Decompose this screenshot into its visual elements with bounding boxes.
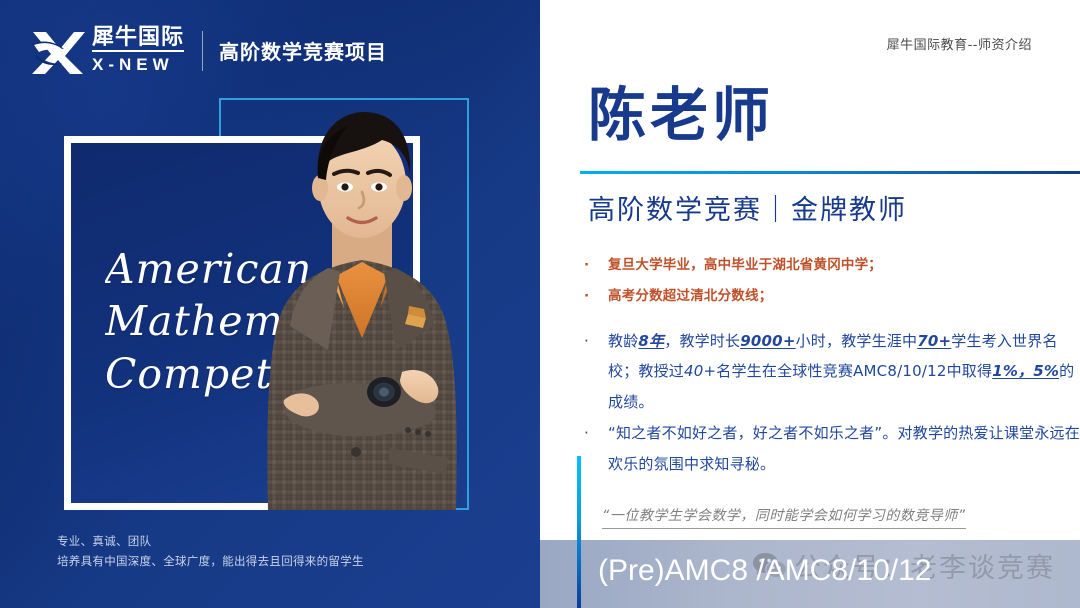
left-navy-panel: American Mathematics Competition: [0, 0, 540, 608]
tagline-quote: “一位教学生学会数学，同时能学会如何学习的数竞导师”: [602, 505, 966, 529]
bullet-list: · 复旦大学毕业，高中毕业于湖北省黄冈中学； · 高考分数超过清北分数线； · …: [580, 250, 1080, 479]
list-item: · 复旦大学毕业，高中毕业于湖北省黄冈中学；: [580, 250, 1080, 281]
bullet-marker: ·: [580, 418, 608, 449]
teacher-photo: [232, 100, 492, 510]
brand-name-en: X-NEW: [92, 54, 184, 75]
caption-line-2: 培养具有中国深度、全球广度，能出得去且回得来的留学生: [57, 551, 364, 571]
caption-line-1: 专业、真诚、团队: [57, 531, 364, 551]
bullet-text: 复旦大学毕业，高中毕业于湖北省黄冈中学；: [608, 250, 1080, 281]
bullet-text: 教龄8年，教学时长9000+小时，教学生涯中70+学生考入世界名校；教授过40+…: [608, 326, 1080, 418]
list-item: · 高考分数超过清北分数线；: [580, 281, 1080, 312]
bullet-text: 高考分数超过清北分数线；: [608, 281, 1080, 312]
brand-divider: [202, 31, 203, 71]
list-item: · “知之者不如好之者，好之者不如乐之者”。对教学的热爱让课堂永远在欢乐的氛围中…: [580, 418, 1080, 480]
slide-root: American Mathematics Competition: [0, 0, 1080, 608]
bottom-course-bar: 公众号：老李谈竞赛 (Pre)AMC8 /AMC8/10/12: [540, 540, 1080, 608]
title-underline-rule: [580, 171, 1080, 174]
bullet-text: “知之者不如好之者，好之者不如乐之者”。对教学的热爱让课堂永远在欢乐的氛围中求知…: [608, 418, 1080, 480]
brand-lockup[interactable]: 犀牛国际 X-NEW 高阶数学竞赛项目: [30, 26, 387, 75]
cyan-accent-bar: [577, 456, 581, 608]
teacher-role-subtitle: 高阶数学竞赛｜金牌教师: [588, 188, 907, 227]
list-item: · 教龄8年，教学时长9000+小时，教学生涯中70+学生考入世界名校；教授过4…: [580, 326, 1080, 418]
bullet-group-spacer: [580, 312, 1080, 326]
brand-name-cn: 犀牛国际: [92, 26, 184, 52]
right-content-panel: 犀牛国际教育--师资介绍 陈老师 高阶数学竞赛｜金牌教师 · 复旦大学毕业，高中…: [540, 0, 1080, 608]
bullet-marker: ·: [580, 326, 608, 357]
deck-section-label: 犀牛国际教育--师资介绍: [887, 34, 1032, 53]
left-caption: 专业、真诚、团队 培养具有中国深度、全球广度，能出得去且回得来的留学生: [57, 531, 364, 571]
bullet-marker: ·: [580, 250, 608, 281]
program-title: 高阶数学竞赛项目: [219, 36, 387, 65]
x-new-rhino-logo-icon: [30, 27, 86, 75]
course-list-title: (Pre)AMC8 /AMC8/10/12: [598, 554, 931, 588]
brand-wordmark: 犀牛国际 X-NEW: [92, 26, 184, 75]
page-title: 陈老师: [588, 86, 774, 144]
bullet-marker: ·: [580, 281, 608, 312]
